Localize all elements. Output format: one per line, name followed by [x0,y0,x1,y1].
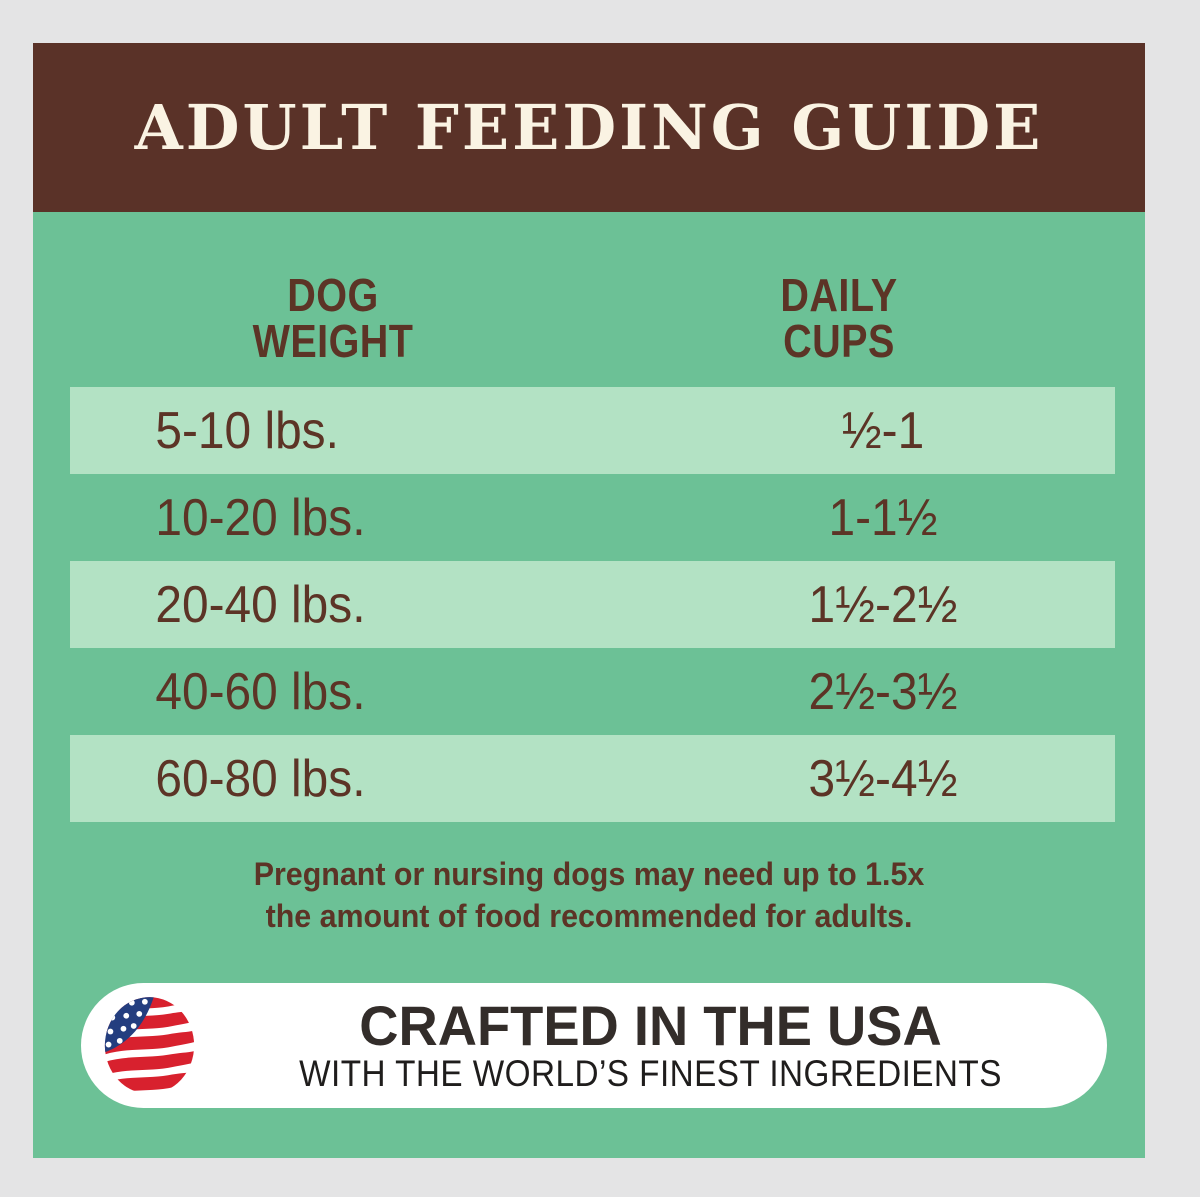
column-header-dog-weight-line2: WEIGHT [109,318,556,364]
column-header-daily-cups-line2: CUPS [667,318,1011,364]
column-header-dog-weight: DOG WEIGHT [109,272,556,364]
feeding-note-line1: Pregnant or nursing dogs may need up to … [61,853,1117,895]
column-header-daily-cups: DAILY CUPS [667,272,1011,364]
table-row: 10-20 lbs. 1-1½ [33,474,1145,561]
cell-daily-cups: 1½-2½ [717,579,1048,631]
table-row: 40-60 lbs. 2½-3½ [33,648,1145,735]
table-row: 20-40 lbs. 1½-2½ [33,561,1145,648]
feeding-note: Pregnant or nursing dogs may need up to … [61,853,1117,937]
table-row: 60-80 lbs. 3½-4½ [33,735,1145,822]
table-row: 5-10 lbs. ½-1 [33,387,1145,474]
crafted-in-usa-badge: CRAFTED IN THE USA WITH THE WORLD’S FINE… [81,983,1107,1108]
cell-dog-weight: 20-40 lbs. [155,579,670,631]
cell-daily-cups: ½-1 [717,405,1048,457]
badge-text-block: CRAFTED IN THE USA WITH THE WORLD’S FINE… [208,997,1107,1095]
cell-daily-cups: 1-1½ [717,492,1048,544]
usa-flag-circle-icon [103,995,196,1096]
column-header-dog-weight-line1: DOG [287,269,378,321]
cell-daily-cups: 3½-4½ [717,753,1048,805]
column-header-daily-cups-line1: DAILY [780,269,897,321]
cell-dog-weight: 60-80 lbs. [155,753,670,805]
cell-dog-weight: 5-10 lbs. [155,405,670,457]
feeding-guide-page: ADULT FEEDING GUIDE DOG WEIGHT DAILY CUP… [0,0,1200,1197]
feeding-note-line2: the amount of food recommended for adult… [61,895,1117,937]
feeding-table: 5-10 lbs. ½-1 10-20 lbs. 1-1½ 20-40 lbs.… [33,387,1145,822]
cell-daily-cups: 2½-3½ [717,666,1048,718]
feeding-guide-card: ADULT FEEDING GUIDE DOG WEIGHT DAILY CUP… [33,43,1145,1158]
cell-dog-weight: 40-60 lbs. [155,666,670,718]
cell-dog-weight: 10-20 lbs. [155,492,670,544]
badge-subline: WITH THE WORLD’S FINEST INGREDIENTS [252,1054,1049,1095]
header-bar: ADULT FEEDING GUIDE [33,43,1145,212]
page-title: ADULT FEEDING GUIDE [135,97,1044,159]
badge-headline: CRAFTED IN THE USA [221,997,1079,1054]
